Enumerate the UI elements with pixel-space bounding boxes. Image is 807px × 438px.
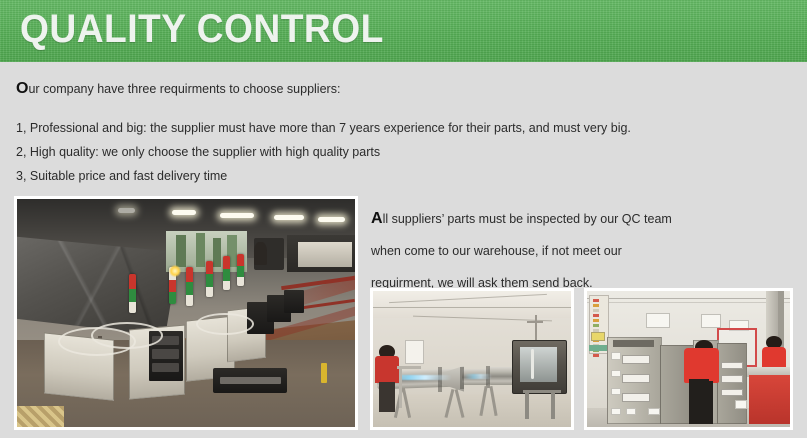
qc-dropcap: A <box>371 210 383 227</box>
quality-control-page: QUALITY CONTROL Our company have three r… <box>0 0 807 438</box>
tower-light <box>206 261 213 297</box>
qc-paragraph-line-1: All suppliers’ parts must be inspected b… <box>371 203 791 235</box>
tower-light <box>186 267 193 306</box>
requirements-list: 1, Professional and big: the supplier mu… <box>16 116 631 188</box>
intro-dropcap: O <box>16 80 28 97</box>
requirement-item-2: 2, High quality: we only choose the supp… <box>16 140 631 164</box>
intro-text: ur company have three requirments to cho… <box>28 82 340 96</box>
requirement-item-3: 3, Suitable price and fast delivery time <box>16 164 631 188</box>
photo-qc-testing-room <box>584 288 793 430</box>
tower-light <box>237 254 244 286</box>
page-title: QUALITY CONTROL <box>20 6 384 52</box>
requirement-item-1: 1, Professional and big: the supplier mu… <box>16 116 631 140</box>
qc-paragraph: All suppliers’ parts must be inspected b… <box>371 203 791 299</box>
tower-light <box>223 256 230 290</box>
header-band: QUALITY CONTROL <box>0 0 807 62</box>
photo-duct-test-lab <box>370 288 574 430</box>
intro-line: Our company have three requirments to ch… <box>16 81 340 97</box>
qc-paragraph-line-2: when come to our warehouse, if not meet … <box>371 235 791 267</box>
photo-factory-production-line <box>14 196 358 430</box>
tower-light <box>129 274 136 313</box>
qc-paragraph-line-1-text: ll suppliers’ parts must be inspected by… <box>383 212 672 226</box>
